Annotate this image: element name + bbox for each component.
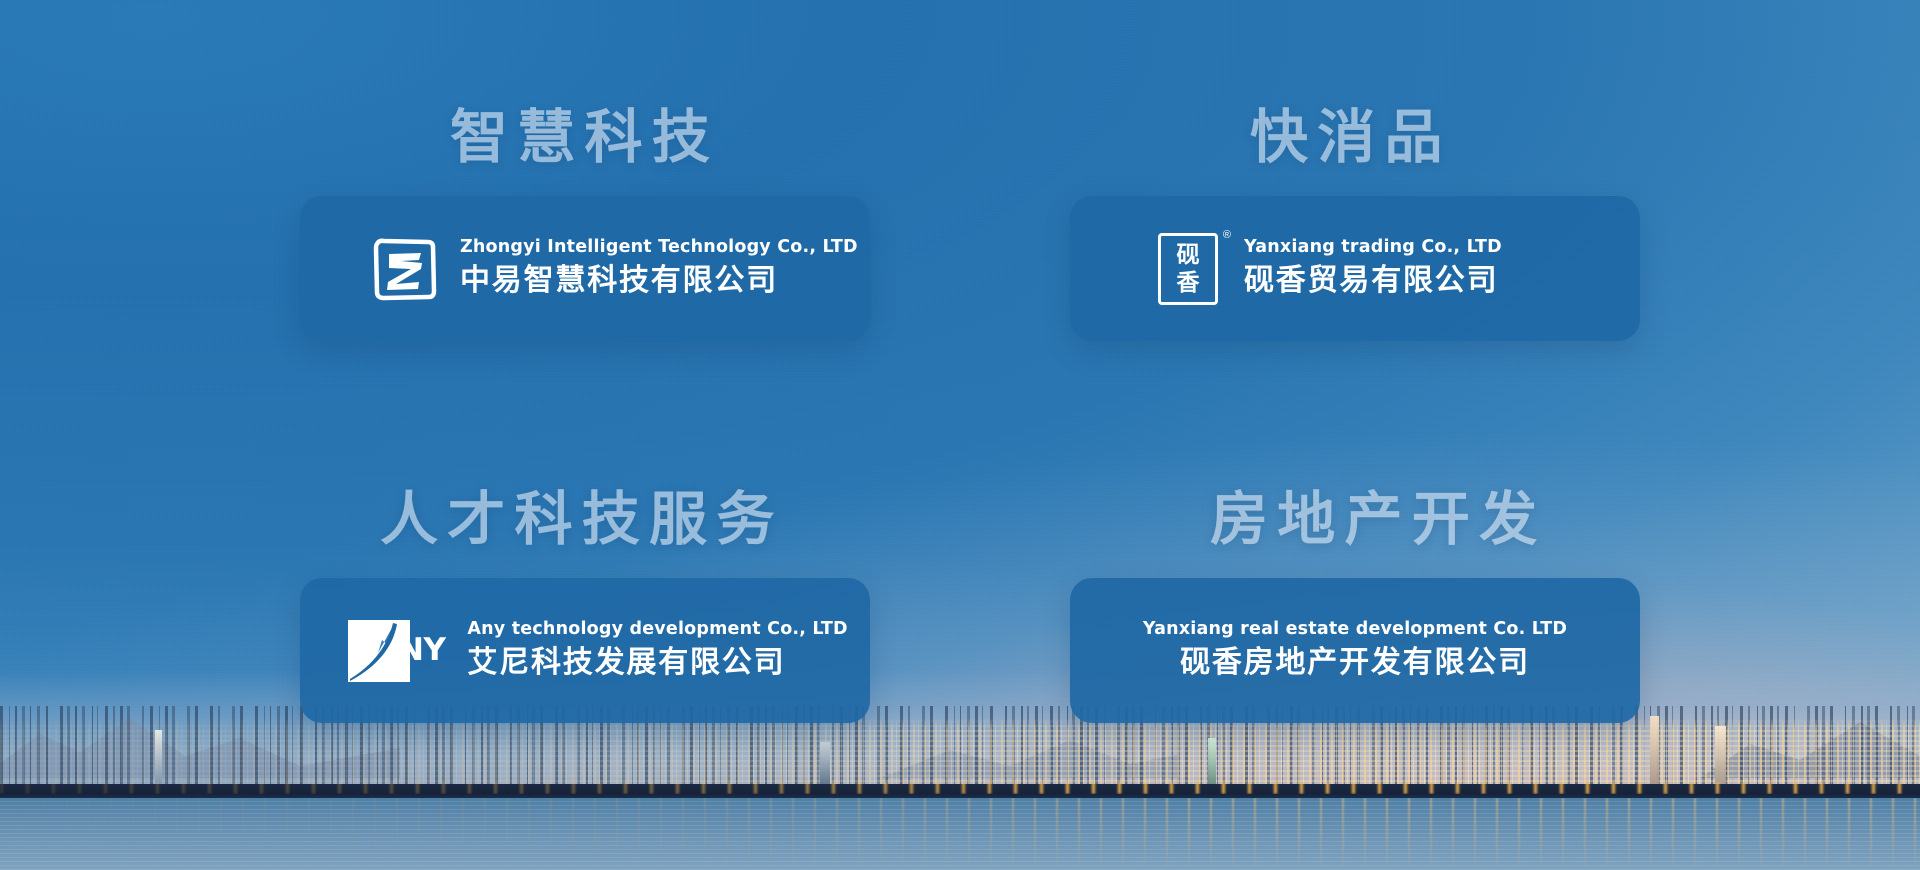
company-card-yanxiang-real-estate[interactable]: Yanxiang real estate development Co. LTD… (1070, 578, 1640, 723)
company-name-cn: 砚香贸易有限公司 (1244, 261, 1502, 300)
company-name-en: Yanxiang trading Co., LTD (1244, 237, 1502, 259)
company-name-cn: 中易智慧科技有限公司 (460, 261, 858, 300)
company-names-yanxiang-trading: Yanxiang trading Co., LTD 砚香贸易有限公司 (1244, 237, 1502, 301)
company-names-zhongyi: Zhongyi Intelligent Technology Co., LTD … (460, 237, 858, 301)
sector-title-talent-services: 人才科技服务 (300, 490, 870, 548)
brand-showcase-stage: 智慧科技 Zhongyi Intelligent Technology Co.,… (0, 0, 1920, 870)
company-card-any[interactable]: NY Any technology development Co., LTD 艾… (300, 578, 870, 723)
company-name-cn: 砚香房地产开发有限公司 (1143, 643, 1567, 682)
zhongyi-z-seal-logo (372, 236, 438, 302)
business-sectors-grid: 智慧科技 Zhongyi Intelligent Technology Co.,… (0, 0, 1920, 870)
company-card-zhongyi[interactable]: Zhongyi Intelligent Technology Co., LTD … (300, 196, 870, 341)
sector-title-fmcg: 快消品 (1070, 108, 1640, 166)
any-wordmark: NY (398, 635, 445, 666)
registered-trademark-icon: ® (1223, 230, 1231, 241)
any-mountain-logo: NY (348, 620, 445, 682)
sector-title-smart-technology: 智慧科技 (300, 108, 870, 166)
seal-char-yan: 砚 (1158, 244, 1218, 267)
sector-block-fmcg: 快消品 砚 香 ® Yanxiang trading Co., LTD 砚香贸易… (1070, 108, 1640, 341)
company-name-cn: 艾尼科技发展有限公司 (467, 643, 847, 682)
company-name-en: Zhongyi Intelligent Technology Co., LTD (460, 237, 858, 259)
company-name-en: Any technology development Co., LTD (467, 619, 847, 641)
seal-char-xiang: 香 (1158, 272, 1218, 295)
sector-block-smart-technology: 智慧科技 Zhongyi Intelligent Technology Co.,… (300, 108, 870, 341)
sector-title-real-estate: 房地产开发 (1070, 490, 1640, 548)
company-name-en: Yanxiang real estate development Co. LTD (1143, 619, 1567, 641)
sector-block-real-estate: 房地产开发 Yanxiang real estate development C… (1070, 490, 1640, 723)
sector-block-talent-services: 人才科技服务 NY Any technology development Co.… (300, 490, 870, 723)
company-names-yanxiang-real-estate: Yanxiang real estate development Co. LTD… (1143, 619, 1567, 683)
company-names-any: Any technology development Co., LTD 艾尼科技… (467, 619, 847, 683)
yanxiang-seal-logo: 砚 香 ® (1158, 233, 1218, 305)
company-card-yanxiang-trading[interactable]: 砚 香 ® Yanxiang trading Co., LTD 砚香贸易有限公司 (1070, 196, 1640, 341)
